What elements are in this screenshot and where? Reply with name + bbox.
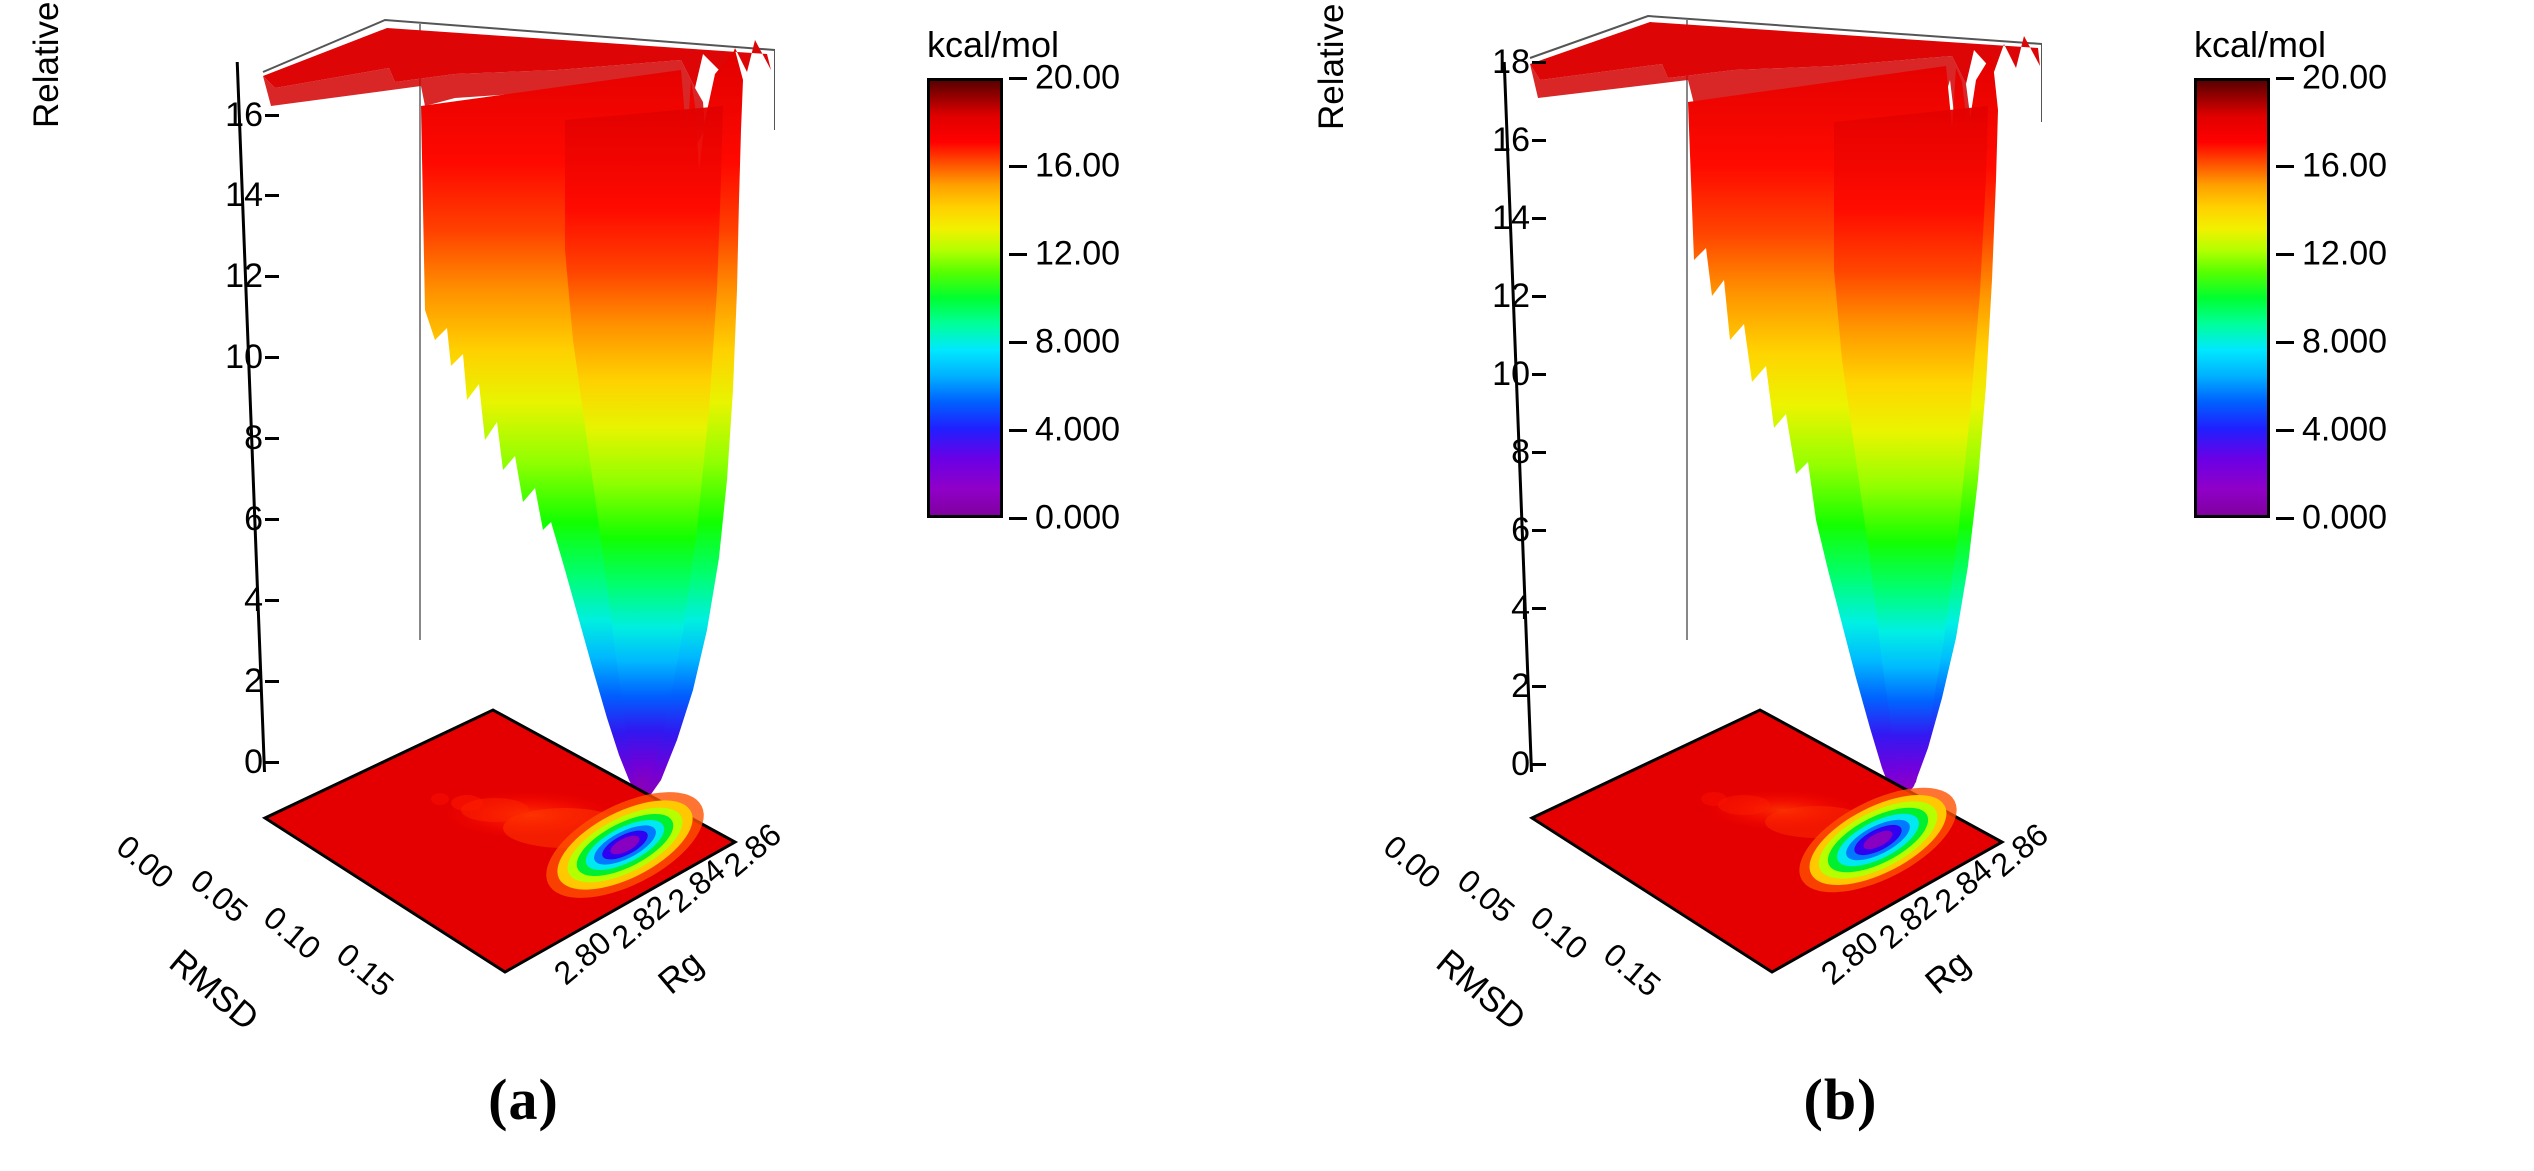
panel-caption-b: (b) <box>1207 1066 2474 1133</box>
colorbar-tick-a-0: 20.00 <box>1009 78 1120 117</box>
colorbar-gradient-a <box>927 78 1003 518</box>
z-tick-a-7: 2 <box>244 681 263 715</box>
z-tick-b-9: 0 <box>1511 764 1530 798</box>
z-tick-a-6: 4 <box>244 600 263 634</box>
z-tick-a-1: 14 <box>225 195 263 229</box>
colorbar-tick-a-4: 4.000 <box>1009 430 1120 469</box>
plot-area-b: 18 16 14 12 10 8 6 4 2 0 Relative Free E… <box>1362 10 2042 1010</box>
colorbar-tick-b-5: 0.000 <box>2276 518 2387 557</box>
z-axis-title-b: Relative Free Energy <box>1312 0 1352 130</box>
z-tick-a-5: 6 <box>244 519 263 553</box>
panel-caption-a: (a) <box>0 1066 1157 1133</box>
z-tick-a-3: 10 <box>225 357 263 391</box>
plot-area-a: 16 14 12 10 8 6 4 2 0 Relative Free Ener… <box>95 10 775 1010</box>
panel-a: 16 14 12 10 8 6 4 2 0 Relative Free Ener… <box>0 0 1267 1171</box>
z-tick-b-0: 18 <box>1492 62 1530 96</box>
z-tick-b-2: 14 <box>1492 218 1530 252</box>
z-tick-a-2: 12 <box>225 276 263 310</box>
colorbar-tick-a-2: 12.00 <box>1009 254 1120 293</box>
colorbar-tick-b-4: 4.000 <box>2276 430 2387 469</box>
z-tick-b-7: 4 <box>1511 608 1530 642</box>
z-tick-a-8: 0 <box>244 762 263 796</box>
z-tick-b-8: 2 <box>1511 686 1530 720</box>
z-tick-a-4: 8 <box>244 438 263 472</box>
z-tick-b-4: 10 <box>1492 374 1530 408</box>
z-tick-b-1: 16 <box>1492 140 1530 174</box>
colorbar-tick-a-1: 16.00 <box>1009 166 1120 205</box>
figure-root: 16 14 12 10 8 6 4 2 0 Relative Free Ener… <box>0 0 2534 1171</box>
z-tick-b-3: 12 <box>1492 296 1530 330</box>
colorbar-gradient-b <box>2194 78 2270 518</box>
colorbar-b: kcal/mol 20.00 16.00 12.00 8.000 4.000 0… <box>2172 28 2502 548</box>
colorbar-tick-b-2: 12.00 <box>2276 254 2387 293</box>
colorbar-tick-b-1: 16.00 <box>2276 166 2387 205</box>
colorbar-tick-a-5: 0.000 <box>1009 518 1120 557</box>
z-tick-a-0: 16 <box>225 115 263 149</box>
z-axis-title-a: Relative Free Energy <box>27 0 67 128</box>
colorbar-tick-a-3: 8.000 <box>1009 342 1120 381</box>
colorbar-tick-b-3: 8.000 <box>2276 342 2387 381</box>
panel-b: 18 16 14 12 10 8 6 4 2 0 Relative Free E… <box>1267 0 2534 1171</box>
z-tick-b-6: 6 <box>1511 530 1530 564</box>
colorbar-a: kcal/mol 20.00 16.00 12.00 8.000 4.000 0… <box>905 28 1235 548</box>
colorbar-tick-b-0: 20.00 <box>2276 78 2387 117</box>
z-tick-b-5: 8 <box>1511 452 1530 486</box>
